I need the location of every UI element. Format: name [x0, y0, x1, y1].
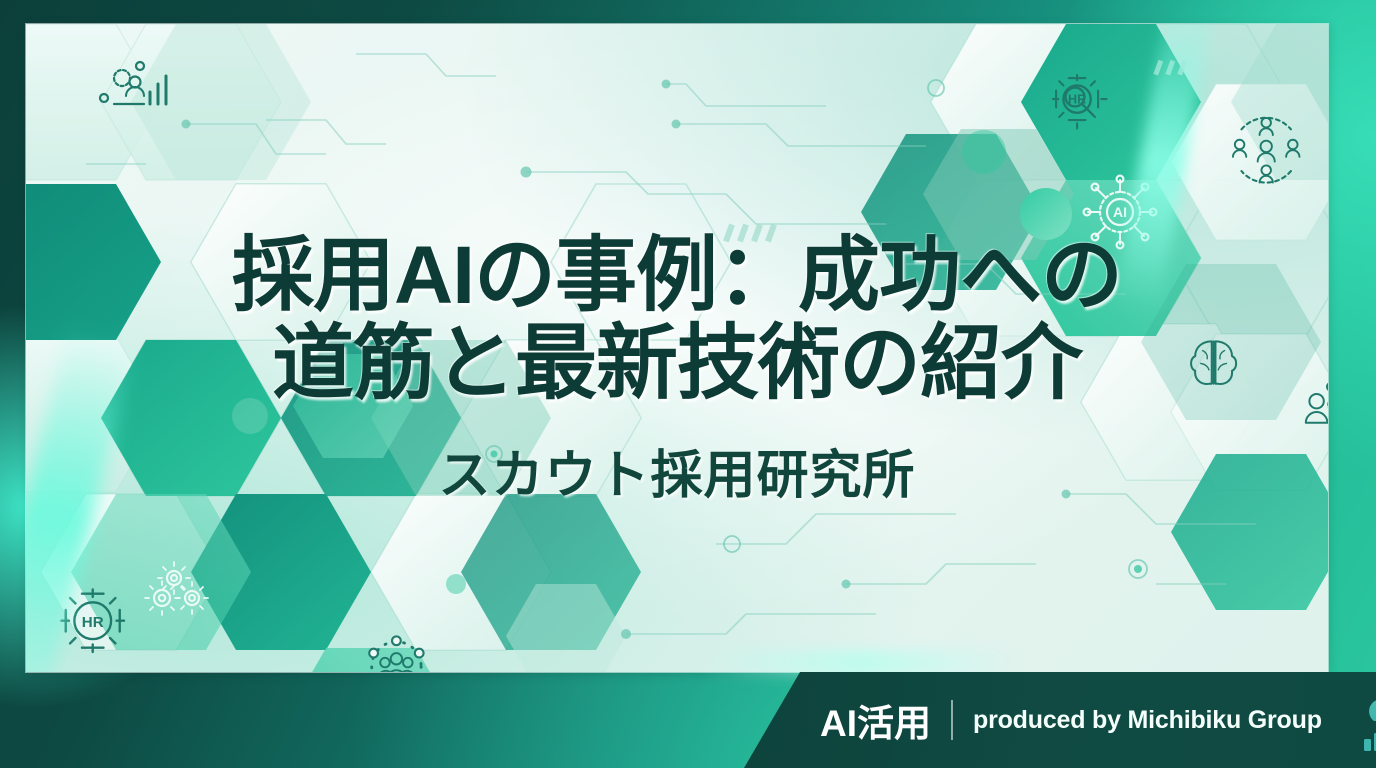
footer-ribbon: AI活用 produced by Michibiku Group — [744, 672, 1376, 768]
svg-text:AI: AI — [1113, 204, 1127, 220]
vertical-divider — [951, 700, 953, 740]
ai-tag-label: AI活用 — [820, 693, 931, 747]
slide-canvas: HR AI — [0, 0, 1376, 768]
svg-text:HR: HR — [1068, 92, 1086, 106]
footer-ribbon-content: AI活用 produced by Michibiku Group — [820, 681, 1376, 759]
content-panel: HR AI — [26, 24, 1328, 672]
svg-text:HR: HR — [82, 614, 104, 631]
produced-by-label: produced by Michibiku Group — [973, 706, 1322, 735]
cloud-person-search-icon — [1354, 681, 1376, 759]
hexagon-decor-layer: HR AI — [26, 24, 1328, 672]
